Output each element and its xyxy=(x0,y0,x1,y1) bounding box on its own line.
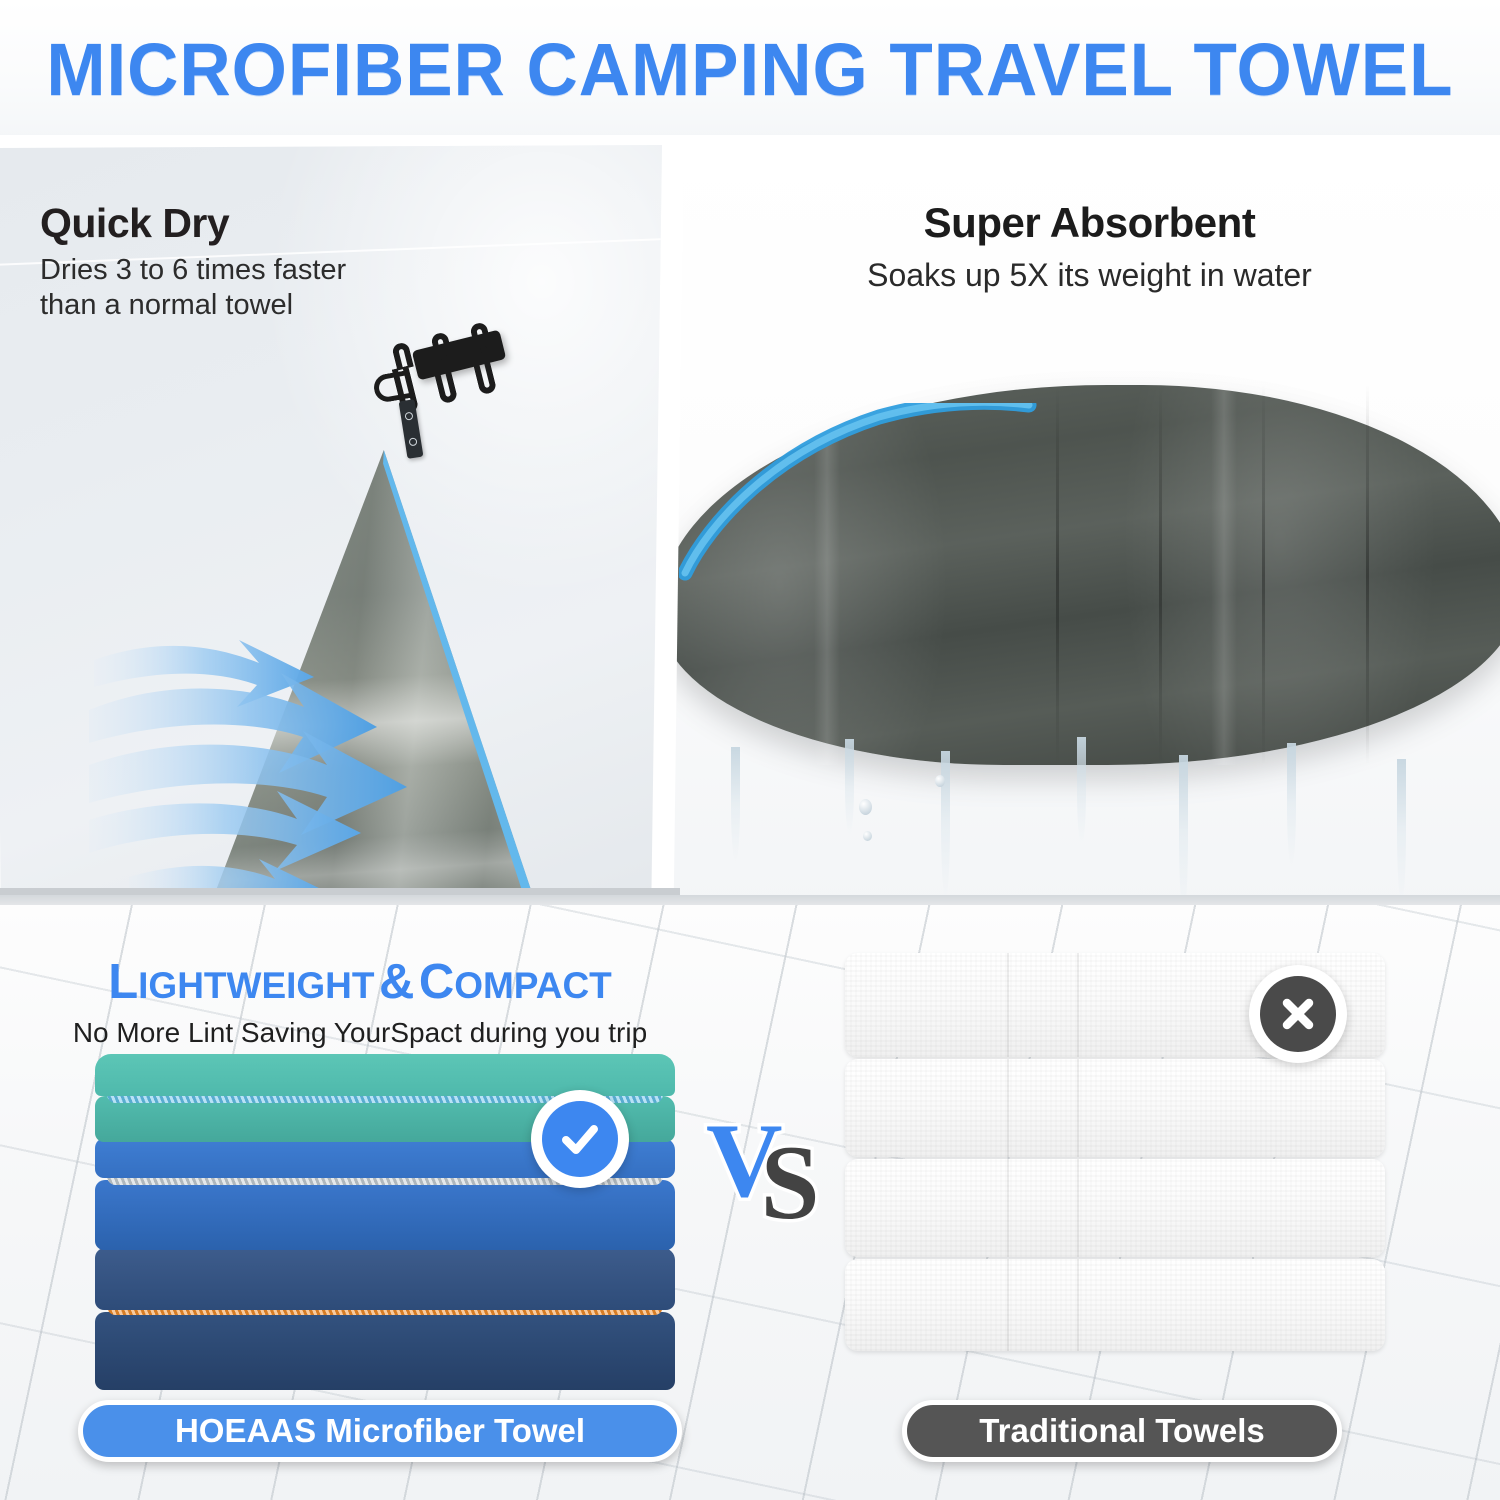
towel-seam xyxy=(1007,1159,1009,1257)
terry-texture xyxy=(845,1259,1385,1351)
water-bead-icon xyxy=(935,775,945,787)
terry-texture xyxy=(845,1159,1385,1257)
water-drip-icon xyxy=(845,739,854,835)
stack-layer-navy xyxy=(95,1248,675,1310)
label-microfiber-towel: HOEAAS Microfiber Towel xyxy=(78,1400,682,1462)
towel-seam xyxy=(1007,1059,1009,1157)
water-bead-icon xyxy=(859,799,872,815)
white-towel-layer-2 xyxy=(845,1059,1385,1157)
white-towel-layer-3 xyxy=(845,1159,1385,1257)
label-traditional-towels: Traditional Towels xyxy=(902,1400,1342,1462)
white-towel-layer-4 xyxy=(845,1259,1385,1351)
check-badge xyxy=(531,1090,629,1188)
towel-fold-4 xyxy=(1366,385,1369,765)
panel-super-absorbent: Super Absorbent Soaks up 5X its weight i… xyxy=(672,139,1500,911)
water-drip-icon xyxy=(1077,737,1086,845)
towel-seam xyxy=(1077,953,1079,1057)
stack-layer-navy-base xyxy=(95,1312,675,1390)
panel-quick-dry: Quick Dry Dries 3 to 6 times faster than… xyxy=(0,145,662,905)
lightweight-subtitle: No More Lint Saving YourSpact during you… xyxy=(0,1017,720,1049)
towel-seam xyxy=(1077,1159,1079,1257)
top-section: Quick Dry Dries 3 to 6 times faster than… xyxy=(0,135,1500,910)
water-drip-icon xyxy=(941,751,950,897)
lw-rest-lightweight: IGHTWEIGHT xyxy=(138,965,374,1006)
towel-seam xyxy=(1007,953,1009,1057)
quick-dry-subtitle-line1: Dries 3 to 6 times faster xyxy=(40,253,390,288)
quick-dry-subtitle: Dries 3 to 6 times faster than a normal … xyxy=(40,253,390,324)
water-bead-icon xyxy=(863,831,872,841)
towel-highlight-2 xyxy=(1211,385,1237,765)
towel-seam xyxy=(1077,1259,1079,1351)
wall-glow xyxy=(261,145,662,601)
versus-badge: VS xyxy=(706,1108,820,1214)
super-absorbent-heading: Super Absorbent xyxy=(673,199,1500,247)
water-drip-icon xyxy=(1179,755,1188,911)
airflow-arrows-icon xyxy=(89,615,429,905)
tag-logo-dot-icon xyxy=(404,412,413,421)
x-badge-circle xyxy=(1260,976,1336,1052)
x-badge xyxy=(1249,965,1347,1063)
close-icon xyxy=(1276,992,1320,1036)
lw-cap-c: C xyxy=(419,955,454,1009)
towel-fold-1 xyxy=(1056,385,1059,765)
towel-seam xyxy=(1007,1259,1009,1351)
lightweight-heading: LIGHTWEIGHT & COMPACT xyxy=(0,958,720,1007)
super-absorbent-subtitle: Soaks up 5X its weight in water xyxy=(673,257,1500,294)
quick-dry-subtitle-line2: than a normal towel xyxy=(40,288,390,323)
water-drip-icon xyxy=(731,747,740,863)
lw-cap-l: L xyxy=(108,955,138,1009)
quick-dry-heading: Quick Dry xyxy=(40,200,229,247)
towel-fold-3 xyxy=(1262,385,1265,765)
vs-letter-s: S xyxy=(761,1130,820,1236)
tag-logo-dot2-icon xyxy=(408,437,417,446)
lw-ampersand: & xyxy=(379,955,414,1009)
lw-rest-compact: OMPACT xyxy=(454,965,612,1006)
page-title: MICROFIBER CAMPING TRAVEL TOWEL xyxy=(46,33,1453,107)
title-bar: MICROFIBER CAMPING TRAVEL TOWEL xyxy=(0,0,1500,140)
towel-seam xyxy=(1077,1059,1079,1157)
towel-highlight-1 xyxy=(814,385,840,765)
wet-twisted-towel-image xyxy=(672,385,1500,765)
check-icon xyxy=(557,1116,603,1162)
stack-layer-blue xyxy=(95,1180,675,1250)
terry-texture xyxy=(845,1059,1385,1157)
check-badge-circle xyxy=(542,1101,618,1177)
water-drip-icon xyxy=(1397,759,1406,901)
water-drip-icon xyxy=(1287,743,1296,867)
towel-fold-2 xyxy=(1159,385,1162,765)
